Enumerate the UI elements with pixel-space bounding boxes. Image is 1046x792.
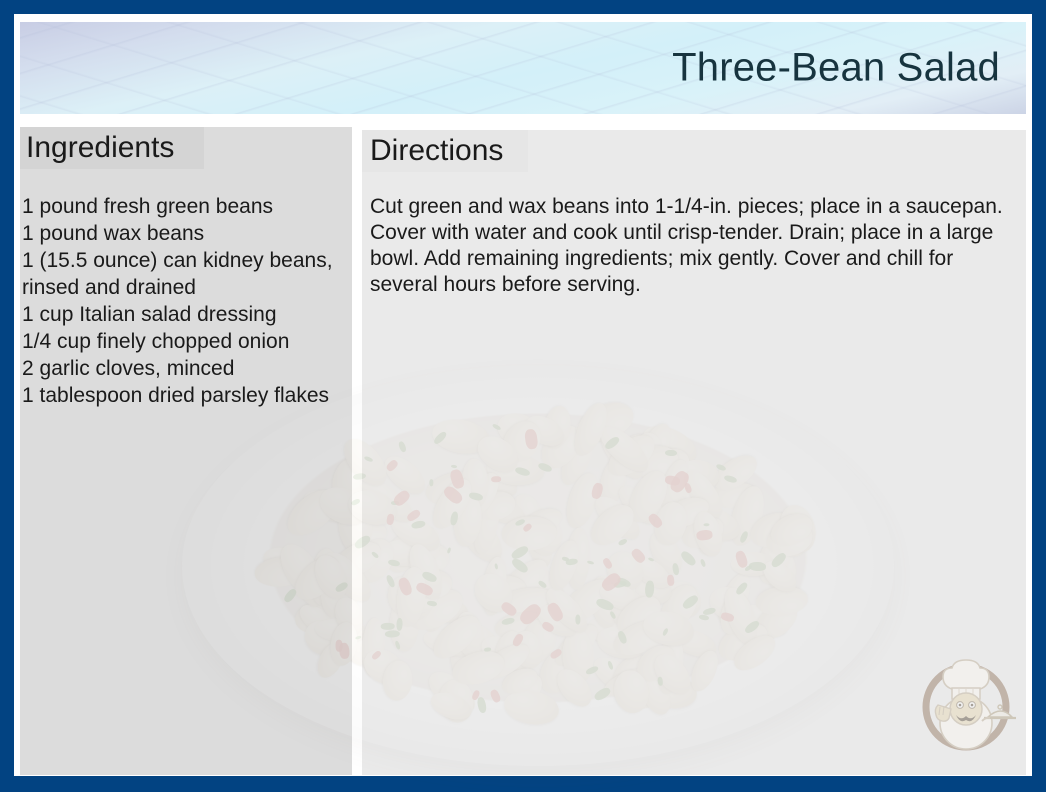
ingredients-heading: Ingredients [26, 131, 174, 165]
frame-border-bottom [0, 776, 1046, 792]
frame-border-left [0, 0, 14, 792]
parsley-fleck [355, 635, 362, 640]
title-banner: Three-Bean Salad [20, 22, 1026, 114]
directions-text: Cut green and wax beans into 1-1/4-in. p… [370, 194, 1020, 298]
frame-border-top [0, 0, 1046, 14]
ingredients-list: 1 pound fresh green beans 1 pound wax be… [22, 193, 352, 409]
page-title: Three-Bean Salad [672, 46, 1000, 91]
recipe-card: Three-Bean Salad Ingredients Directions … [0, 0, 1046, 792]
frame-border-right [1032, 0, 1046, 792]
directions-heading: Directions [370, 134, 503, 168]
